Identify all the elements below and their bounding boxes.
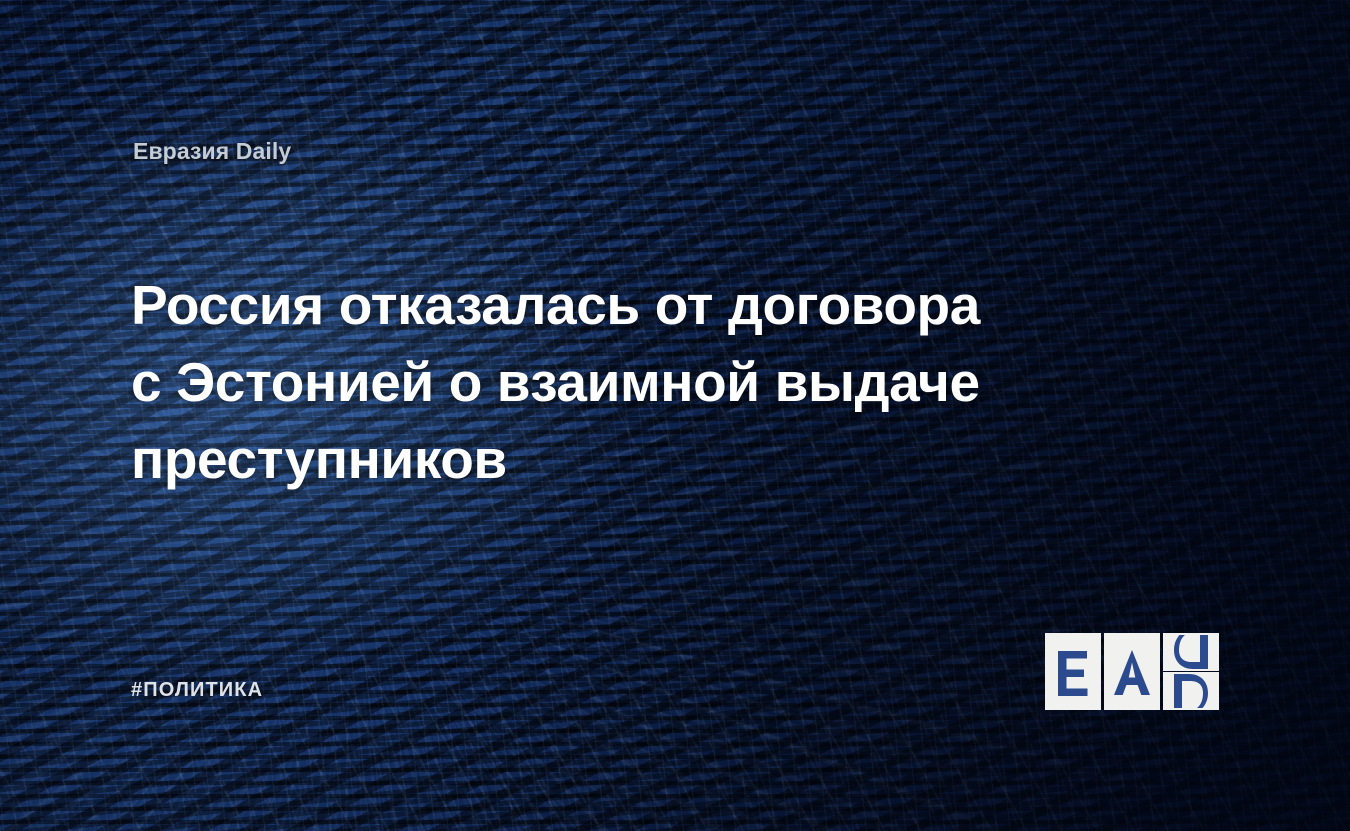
- card-content: Евразия Daily Россия отказалась от догов…: [0, 0, 1350, 831]
- logo-tile-d: [1163, 633, 1219, 710]
- publisher-brand-label: Евразия Daily: [133, 138, 291, 165]
- news-cover-card: Евразия Daily Россия отказалась от догов…: [0, 0, 1350, 831]
- headline: Россия отказалась от договора с Эстонией…: [131, 267, 1031, 498]
- logo-tile-e: [1045, 633, 1101, 710]
- letter-d-upper-half: [1163, 633, 1219, 671]
- letter-a-icon: [1112, 648, 1152, 696]
- eadaily-logo[interactable]: [1045, 633, 1219, 710]
- letter-d-half-icon: [1171, 635, 1211, 669]
- category-hashtag[interactable]: #ПОЛИТИКА: [131, 679, 263, 702]
- headline-line: Россия отказалась от договора: [131, 267, 1031, 344]
- headline-line: преступников: [131, 421, 1031, 498]
- headline-line: с Эстонией о взаимной выдаче: [131, 344, 1031, 421]
- letter-d-half-icon: [1171, 674, 1211, 708]
- letter-d-lower-half: [1163, 672, 1219, 710]
- letter-e-icon: [1055, 648, 1091, 696]
- logo-tile-a: [1104, 633, 1160, 710]
